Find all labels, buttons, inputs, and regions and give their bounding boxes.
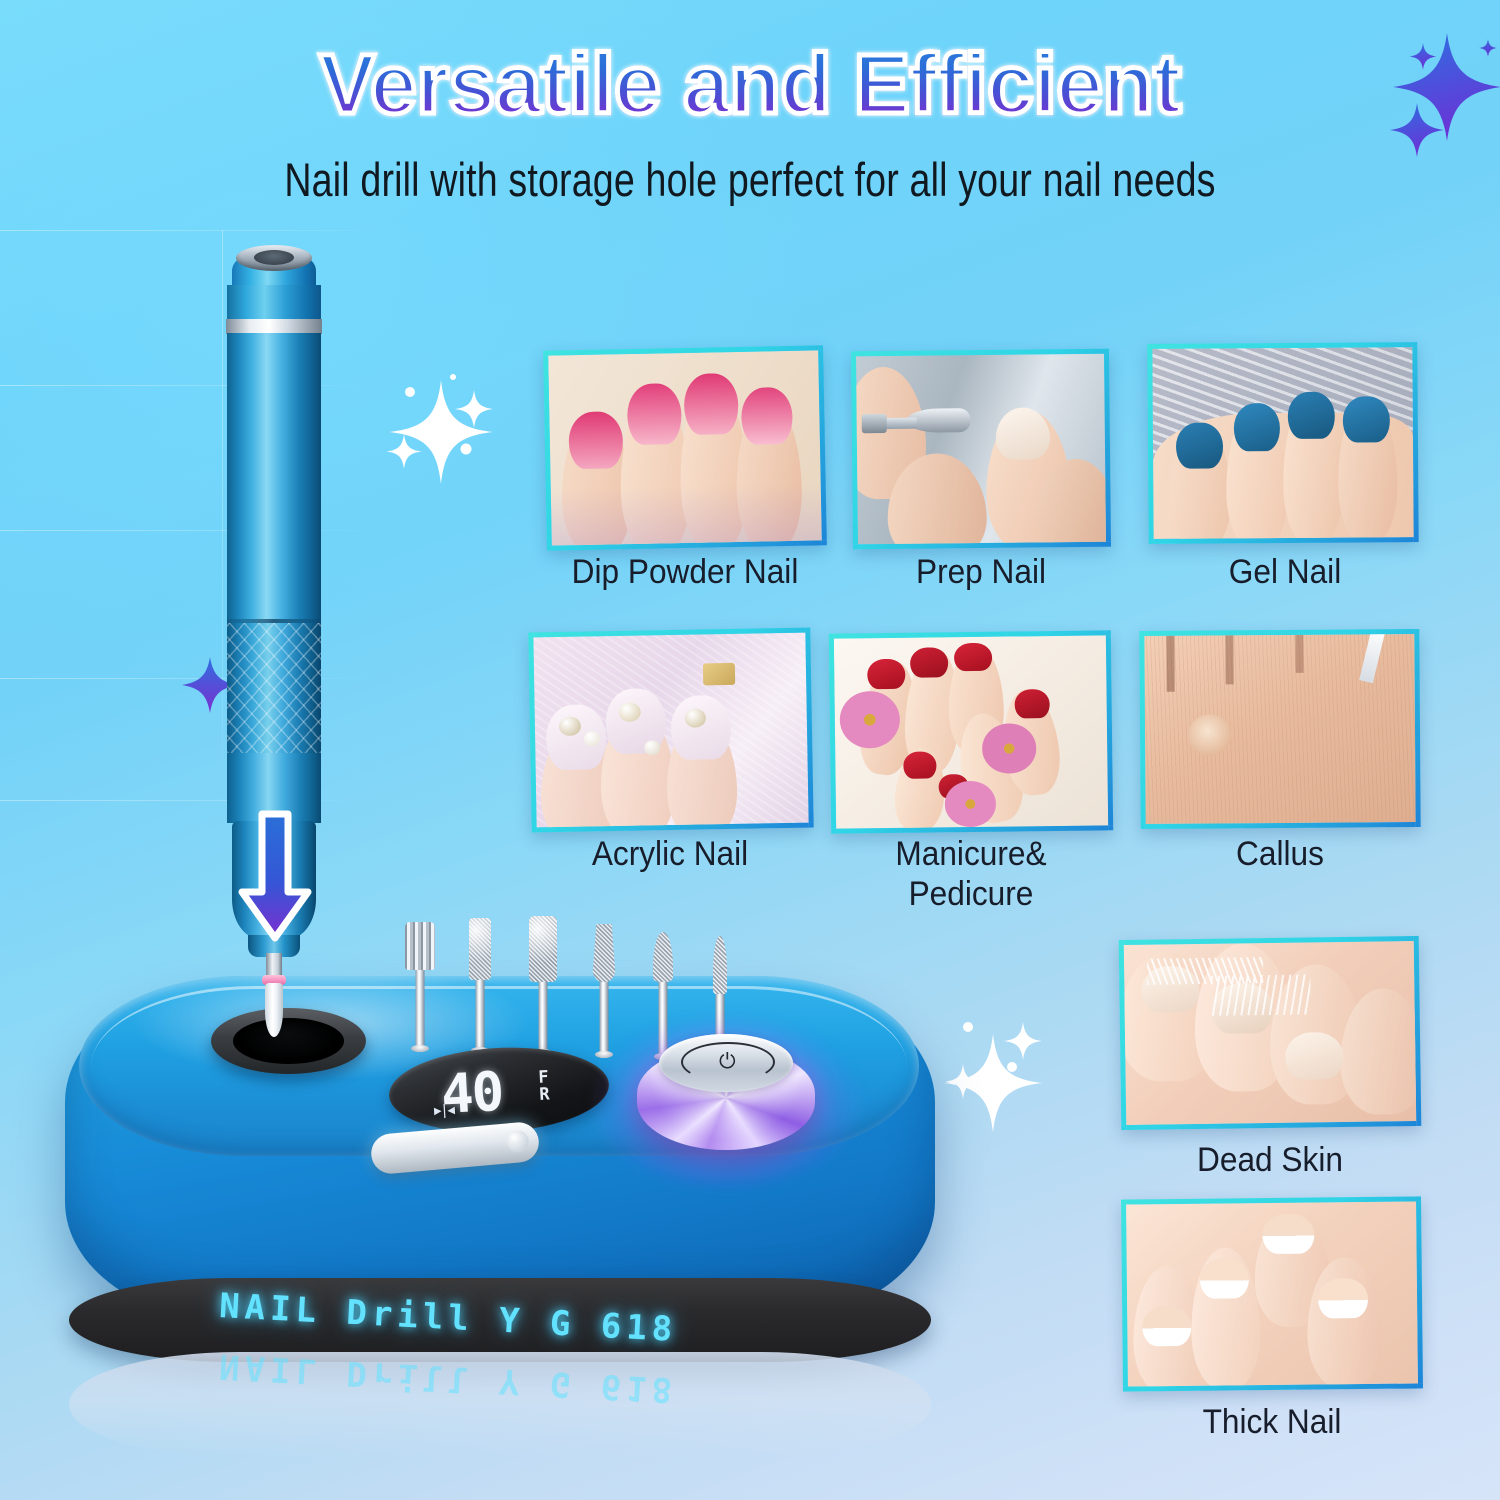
dead-skin-photo xyxy=(1124,941,1416,1125)
use-case-card-dead-skin[interactable] xyxy=(1119,936,1422,1130)
use-case-caption: Manicure& Pedicure xyxy=(840,834,1102,914)
use-case-card-callus[interactable] xyxy=(1139,629,1420,829)
nail-drill-handpiece[interactable] xyxy=(210,245,350,1035)
brand-label: NAIL Drill Y G 618 xyxy=(218,1286,678,1350)
thumbnail-frame xyxy=(528,628,813,833)
thumbnail-frame xyxy=(543,345,827,550)
thumbnail-frame xyxy=(851,349,1111,550)
thumbnail-frame xyxy=(829,630,1113,833)
callus-photo xyxy=(1144,634,1415,824)
drill-bit-barrel-cluster[interactable] xyxy=(403,922,437,1052)
gel-nail-photo xyxy=(1152,347,1413,539)
pen-neck xyxy=(227,285,321,323)
drill-bit-cone[interactable] xyxy=(589,924,619,1058)
sparkle-icon xyxy=(383,368,508,488)
thick-nail-photo xyxy=(1126,1201,1418,1386)
subtitle: Nail drill with storage hole perfect for… xyxy=(150,152,1350,207)
dip-powder-nail-photo xyxy=(548,350,822,545)
use-case-card-acrylic-nail[interactable] xyxy=(528,628,813,833)
insert-direction-arrow-icon xyxy=(234,810,316,945)
thumbnail-frame xyxy=(1139,629,1420,829)
speed-unit: F R xyxy=(538,1069,550,1103)
use-case-caption: Dead Skin xyxy=(1131,1140,1410,1180)
base-reflection: NAIL Drill Y G 618 xyxy=(69,1352,931,1457)
use-case-card-gel-nail[interactable] xyxy=(1147,342,1418,544)
thumbnail-frame xyxy=(1119,936,1422,1130)
pen-barrel xyxy=(227,333,321,623)
knob-cap: ⏻ xyxy=(659,1034,793,1092)
thumbnail-frame xyxy=(1147,342,1418,544)
headline-container: Versatile and Efficient xyxy=(0,42,1500,126)
manicure-pedicure-photo xyxy=(834,635,1108,828)
pen-knurled-grip xyxy=(227,623,321,753)
thumbnail-frame xyxy=(1121,1196,1423,1391)
acrylic-nail-photo xyxy=(533,633,808,828)
bit-head xyxy=(265,983,283,1037)
use-case-caption: Thick Nail xyxy=(1133,1402,1412,1442)
use-case-caption: Acrylic Nail xyxy=(517,834,824,874)
use-case-caption: Callus xyxy=(1150,834,1410,874)
use-case-caption: Prep Nail xyxy=(855,552,1108,592)
use-case-card-dip-powder[interactable] xyxy=(543,345,827,550)
use-case-caption: Gel Nail xyxy=(1150,552,1420,592)
use-case-card-prep-nail[interactable] xyxy=(851,349,1111,550)
brand-band: NAIL Drill Y G 618 xyxy=(69,1278,931,1362)
sparkle-icon xyxy=(938,1018,1063,1138)
brand-label-reflection: NAIL Drill Y G 618 xyxy=(218,1352,678,1410)
power-knob[interactable]: ⏻ xyxy=(631,1028,821,1160)
nail-drill-base-unit[interactable]: 40 F R ▸|◂ ⏻ NAIL Drill Y G 618 NAIL Dri… xyxy=(55,960,955,1430)
prep-nail-photo xyxy=(856,354,1106,545)
installed-drill-bit xyxy=(262,975,286,1037)
use-case-card-manicure-pedicure[interactable] xyxy=(829,630,1113,833)
pen-top-port xyxy=(254,250,294,265)
use-case-card-thick-nail[interactable] xyxy=(1121,1196,1423,1391)
drill-bit-large-barrel[interactable] xyxy=(526,916,560,1056)
use-case-caption: Dip Powder Nail xyxy=(532,552,839,592)
page-title: Versatile and Efficient xyxy=(319,42,1180,126)
power-icon: ⏻ xyxy=(719,1051,736,1072)
product-infographic: Versatile and Efficient Nail drill with … xyxy=(0,0,1500,1500)
direction-indicator-icon: ▸|◂ xyxy=(434,1100,457,1119)
drill-bit-cylinder[interactable] xyxy=(465,918,495,1054)
pen-silver-ring xyxy=(226,319,322,334)
